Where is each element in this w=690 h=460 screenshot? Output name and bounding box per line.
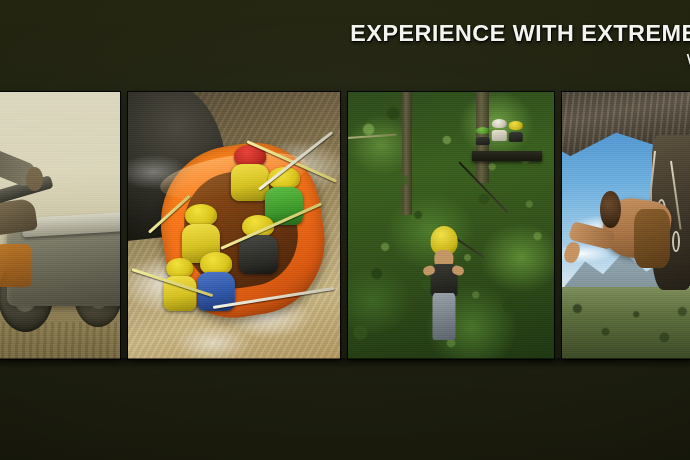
platform-person-2 xyxy=(492,119,506,154)
banner-subheadline: World Class Op xyxy=(0,50,690,72)
zipline-rider-legs xyxy=(432,293,455,340)
rafting-scene xyxy=(128,92,340,359)
atv-haze-overlay xyxy=(0,92,120,359)
rafter-1 xyxy=(234,145,266,201)
climber-head xyxy=(600,191,620,228)
carabiner-2 xyxy=(672,231,680,252)
platform-person-2-torso xyxy=(492,130,506,140)
platform-person-3 xyxy=(509,121,523,153)
rafter-5 xyxy=(200,252,232,311)
platform-person-2-helmet xyxy=(492,119,506,128)
rafter-5-helmet xyxy=(200,252,232,274)
climbing-scene xyxy=(562,92,690,359)
banner-headline: EXPERIENCE WITH EXTREME ADVENTU xyxy=(0,20,690,46)
gallery-panel-rafting[interactable] xyxy=(128,92,340,359)
gallery-panel-zipline[interactable] xyxy=(348,92,554,359)
climber-harness xyxy=(634,209,670,268)
platform-person-1-torso xyxy=(476,137,490,146)
valley-vegetation xyxy=(562,287,690,359)
rafter-3-helmet xyxy=(185,204,217,226)
platform-person-1-helmet xyxy=(476,127,490,135)
banner-header: EXPERIENCE WITH EXTREME ADVENTU World Cl… xyxy=(0,20,690,72)
rafter-4-vest xyxy=(239,235,277,274)
zipline-rider xyxy=(430,226,457,338)
banner-stage: EXPERIENCE WITH EXTREME ADVENTU World Cl… xyxy=(0,0,690,460)
rafter-4 xyxy=(242,215,274,274)
platform-person-3-helmet xyxy=(509,121,523,129)
atv-scene xyxy=(0,92,120,359)
zipline-scene xyxy=(348,92,554,359)
gallery-panel-climbing[interactable] xyxy=(562,92,690,359)
image-gallery-strip xyxy=(0,92,690,359)
platform-person-3-torso xyxy=(509,132,523,142)
gallery-panel-atv[interactable] xyxy=(0,92,120,359)
platform-person-1 xyxy=(476,127,490,156)
